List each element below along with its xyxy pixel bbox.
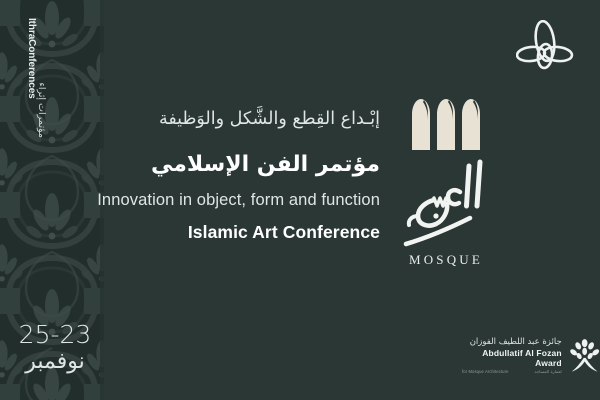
- english-title: Islamic Art Conference: [90, 221, 380, 244]
- mosque-wordmark: MOSQUE: [392, 252, 500, 268]
- event-date-days: 25-23: [12, 322, 98, 347]
- english-subtitle: Innovation in object, form and function: [90, 190, 380, 211]
- award-name-english: Abdullatif Al Fozan Award: [462, 348, 562, 368]
- arabic-subtitle: إبْـداع القِطع والشَّكل والوَظيفة: [90, 108, 380, 132]
- event-date-month: نوفمبر: [12, 348, 98, 376]
- mosque-logo: MOSQUE: [392, 98, 500, 268]
- mosque-arches-icon: [410, 98, 482, 150]
- ithra-conferences-english: IthraConferences: [26, 18, 37, 138]
- ithra-conferences-arabic: مؤتمرات إثراء: [36, 18, 46, 138]
- award-tagline-english: for Mosque Architecture: [462, 370, 509, 375]
- event-date-block: 25-23 نوفمبر: [12, 322, 98, 376]
- conference-title-stack: إبْـداع القِطع والشَّكل والوَظيفة مؤتمر …: [90, 108, 380, 243]
- al-fozan-palm-icon: [569, 336, 600, 376]
- award-tagline-arabic: لعمارة المساجد: [535, 370, 562, 375]
- al-fozan-award-lockup: جائزة عبد اللطيف الفوزان Abdullatif Al F…: [462, 336, 600, 376]
- arabic-title: مؤتمر الفن الإسلامي: [90, 151, 380, 180]
- award-name-arabic: جائزة عبد اللطيف الفوزان: [462, 337, 562, 347]
- ithra-knot-logo-icon: [516, 20, 574, 70]
- ithra-conferences-vertical-lockup: مؤتمرات إثراء IthraConferences: [16, 18, 46, 138]
- mosque-arabic-calligraphy: [396, 156, 496, 248]
- conference-poster: مؤتمرات إثراء IthraConferences 25-23 نوف…: [0, 0, 600, 400]
